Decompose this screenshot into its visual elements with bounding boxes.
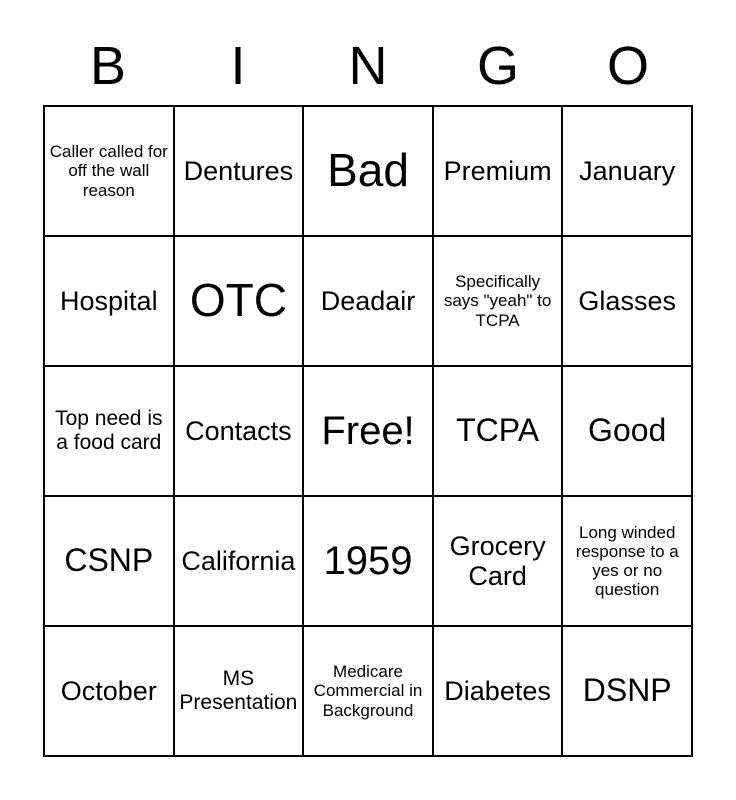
header-letter-b: B — [43, 30, 173, 102]
bingo-cell-label: Free! — [308, 409, 428, 454]
bingo-cell[interactable]: Specifically says "yeah" to TCPA — [434, 237, 564, 367]
bingo-cell-label: Medicare Commercial in Background — [308, 662, 428, 719]
bingo-cell-label: DSNP — [567, 673, 687, 709]
bingo-cell-label: Grocery Card — [438, 531, 558, 591]
bingo-cell-label: Good — [567, 413, 687, 449]
bingo-cell-label: Bad — [308, 145, 428, 197]
bingo-cell[interactable]: MS Presentation — [175, 627, 305, 757]
bingo-cell[interactable]: October — [45, 627, 175, 757]
bingo-cell-label: Long winded response to a yes or no ques… — [567, 523, 687, 599]
bingo-grid: Caller called for off the wall reasonDen… — [43, 105, 693, 757]
bingo-cell-label: Specifically says "yeah" to TCPA — [438, 272, 558, 329]
bingo-cell-label: 1959 — [308, 539, 428, 584]
bingo-cell[interactable]: Contacts — [175, 367, 305, 497]
bingo-cell[interactable]: DSNP — [563, 627, 693, 757]
bingo-cell[interactable]: Premium — [434, 107, 564, 237]
bingo-header: B I N G O — [43, 30, 693, 102]
header-letter-i: I — [173, 30, 303, 102]
bingo-cell-label: Top need is a food card — [49, 407, 169, 454]
bingo-card: B I N G O Caller called for off the wall… — [0, 0, 736, 800]
bingo-cell-label: California — [179, 546, 299, 576]
bingo-cell[interactable]: California — [175, 497, 305, 627]
bingo-cell[interactable]: Grocery Card — [434, 497, 564, 627]
bingo-cell[interactable]: Medicare Commercial in Background — [304, 627, 434, 757]
bingo-cell[interactable]: 1959 — [304, 497, 434, 627]
bingo-cell-label: Diabetes — [438, 676, 558, 706]
bingo-free-space-cell[interactable]: Free! — [304, 367, 434, 497]
bingo-cell[interactable]: Deadair — [304, 237, 434, 367]
bingo-cell-label: Dentures — [179, 156, 299, 186]
bingo-cell-label: CSNP — [49, 543, 169, 579]
bingo-cell[interactable]: Good — [563, 367, 693, 497]
bingo-cell[interactable]: Long winded response to a yes or no ques… — [563, 497, 693, 627]
bingo-cell[interactable]: Top need is a food card — [45, 367, 175, 497]
bingo-cell-label: Glasses — [567, 286, 687, 316]
bingo-cell-label: OTC — [179, 275, 299, 327]
bingo-cell-label: Contacts — [179, 416, 299, 446]
bingo-cell-label: October — [49, 676, 169, 706]
bingo-cell[interactable]: Caller called for off the wall reason — [45, 107, 175, 237]
bingo-cell-label: Hospital — [49, 286, 169, 316]
bingo-cell[interactable]: TCPA — [434, 367, 564, 497]
bingo-cell[interactable]: Dentures — [175, 107, 305, 237]
bingo-cell[interactable]: Glasses — [563, 237, 693, 367]
header-letter-g: G — [433, 30, 563, 102]
bingo-cell[interactable]: Bad — [304, 107, 434, 237]
bingo-cell[interactable]: January — [563, 107, 693, 237]
bingo-cell-label: Caller called for off the wall reason — [49, 142, 169, 199]
bingo-cell-label: TCPA — [438, 413, 558, 449]
bingo-cell-label: Premium — [438, 156, 558, 186]
bingo-cell[interactable]: Diabetes — [434, 627, 564, 757]
bingo-cell[interactable]: CSNP — [45, 497, 175, 627]
bingo-cell-label: MS Presentation — [179, 667, 299, 714]
bingo-cell-label: January — [567, 156, 687, 186]
bingo-cell[interactable]: OTC — [175, 237, 305, 367]
bingo-cell-label: Deadair — [308, 286, 428, 316]
header-letter-o: O — [563, 30, 693, 102]
bingo-cell[interactable]: Hospital — [45, 237, 175, 367]
header-letter-n: N — [303, 30, 433, 102]
